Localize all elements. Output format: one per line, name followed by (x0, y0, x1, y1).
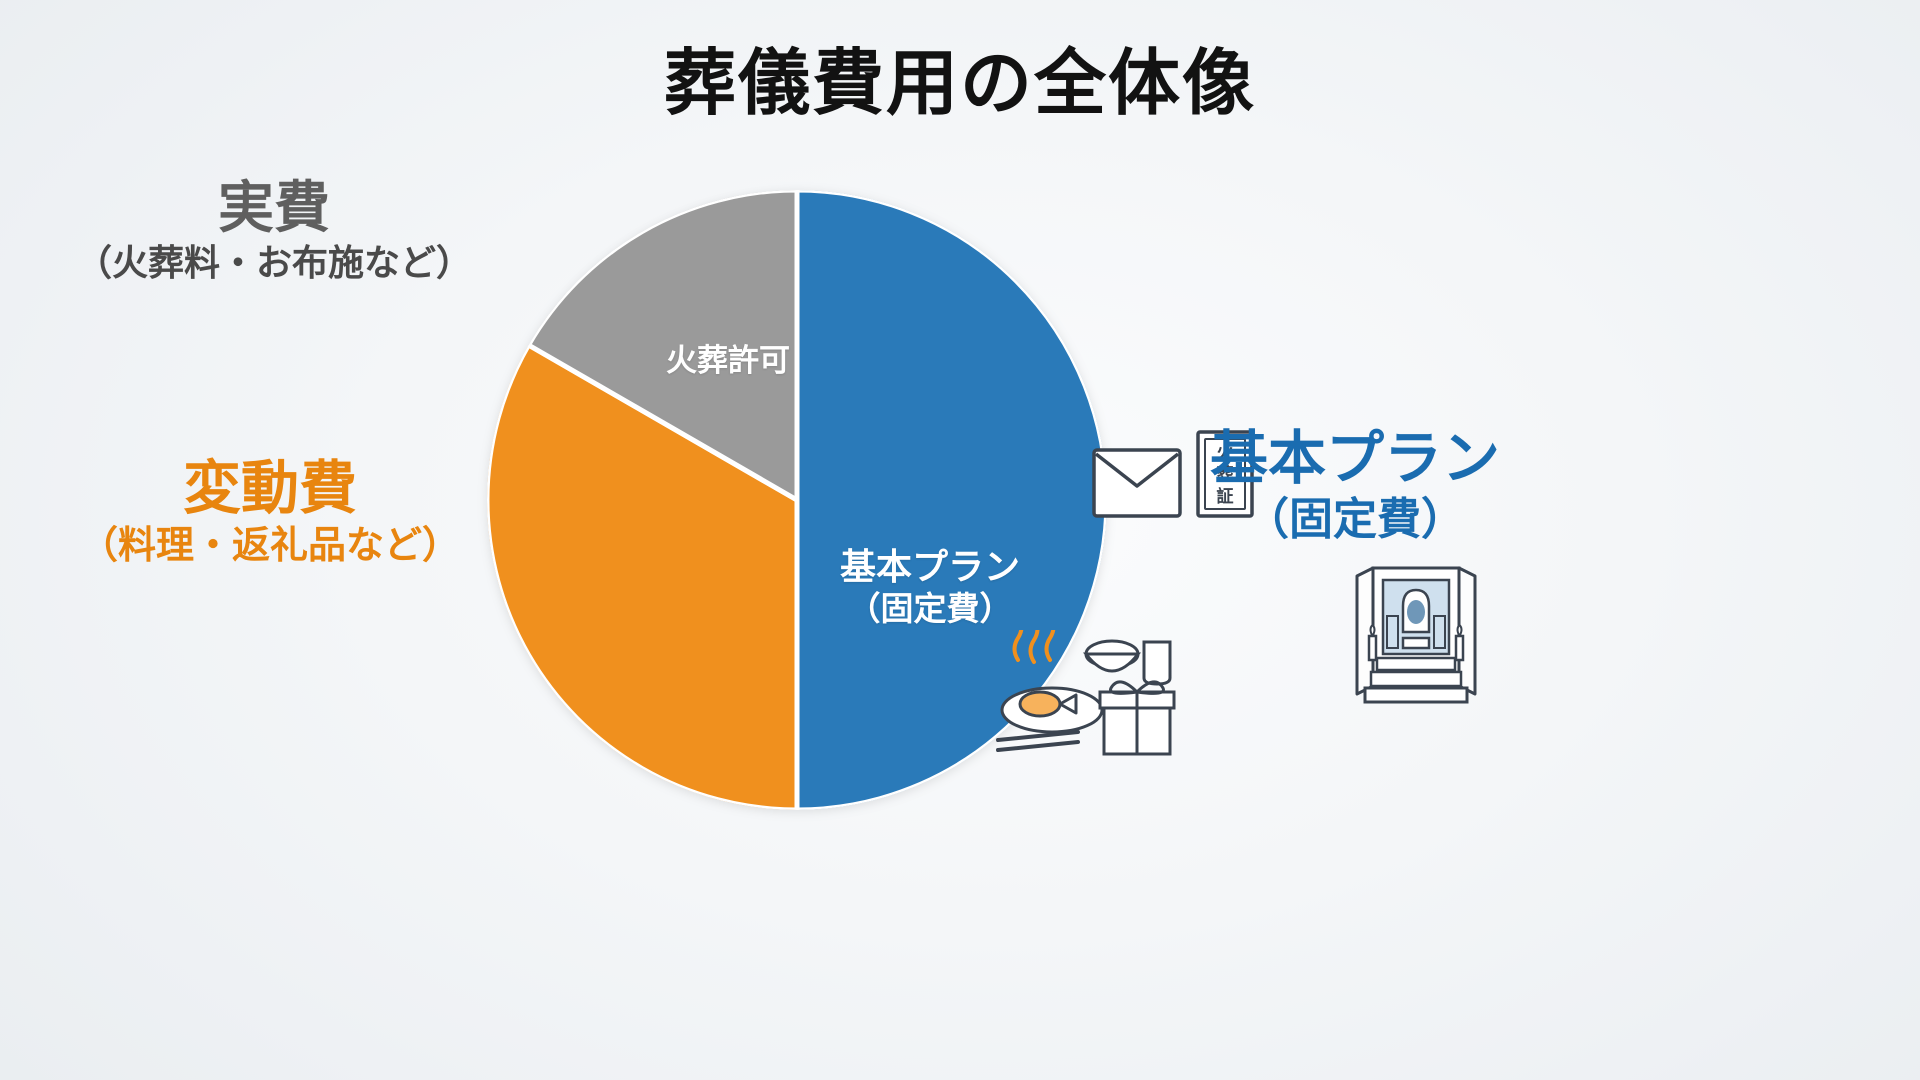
legend-label-basic-plan: 基本プラン （固定費） (1120, 428, 1590, 545)
buddhist-altar-icon (1349, 560, 1483, 717)
legend-label-variable-cost-main: 変動費 (0, 458, 540, 521)
legend-label-basic-plan-sub: （固定費） (1120, 495, 1590, 546)
blue-slice-inline-label-line2: （固定費） (790, 589, 1070, 629)
legend-label-variable-cost-sub: （料理・返礼品など） (0, 525, 540, 569)
gray-slice-inline-label: 火葬許可 (628, 335, 828, 380)
legend-label-basic-plan-main: 基本プラン (1120, 428, 1590, 491)
page-title: 葬儀費用の全体像 (0, 48, 1920, 120)
legend-label-actual-cost-sub: （火葬料・お布施など） (0, 242, 548, 283)
blue-slice-inline-label: 基本プラン （固定費） (790, 545, 1070, 629)
legend-label-actual-cost-main: 実費 (0, 178, 548, 238)
food-and-gift-icon (992, 630, 1182, 785)
legend-label-variable-cost: 変動費 （料理・返礼品など） (0, 458, 540, 568)
legend-label-actual-cost: 実費 （火葬料・お布施など） (0, 178, 548, 284)
pie-chart: 火 葬 証 (487, 190, 1107, 810)
infographic-canvas: 葬儀費用の全体像 火 葬 (0, 0, 1920, 1080)
blue-slice-inline-label-line1: 基本プラン (790, 545, 1070, 589)
